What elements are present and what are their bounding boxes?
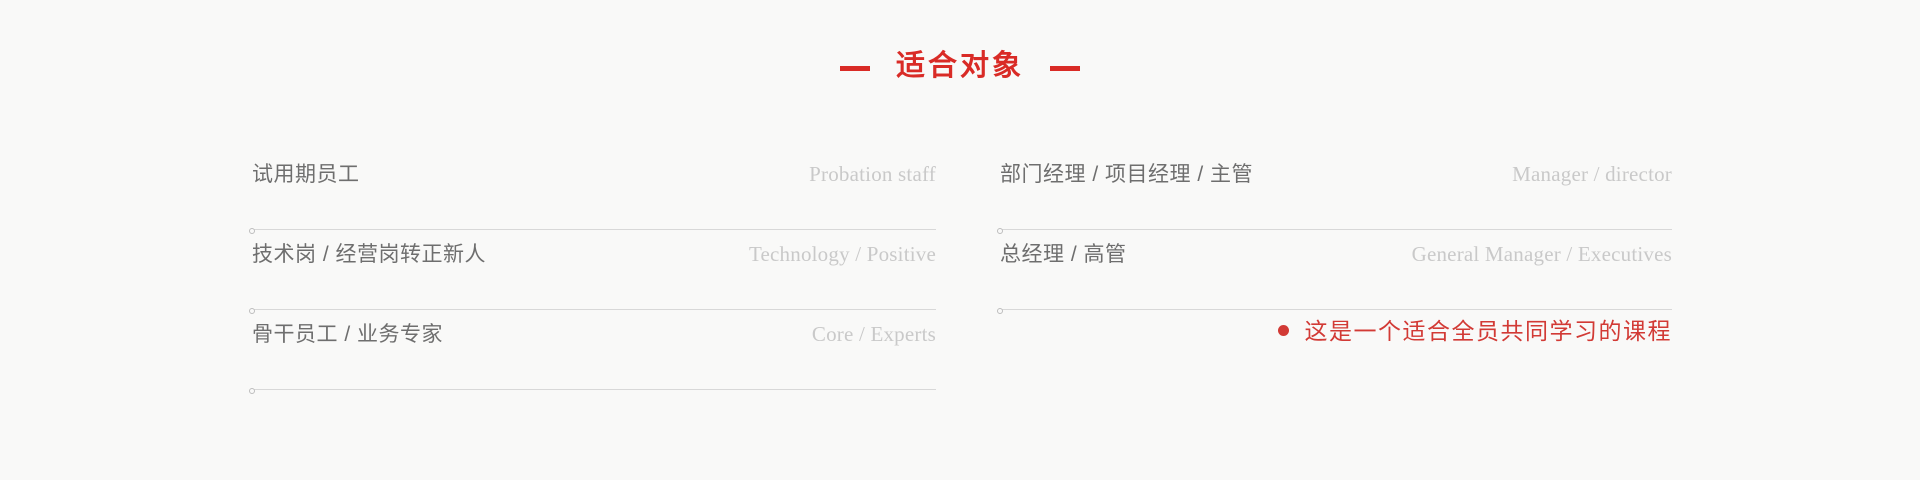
audience-label-cn: 骨干员工 / 业务专家	[252, 318, 443, 348]
audience-columns: 试用期员工 Probation staff 技术岗 / 经营岗转正新人 Tech…	[0, 150, 1920, 410]
bullet-dot-icon	[1278, 325, 1289, 336]
highlight-note-text: 这是一个适合全员共同学习的课程	[1305, 320, 1673, 343]
audience-label-en: General Manager / Executives	[1412, 242, 1672, 267]
page-title: 适合对象	[0, 52, 1920, 81]
audience-label-en: Technology / Positive	[749, 242, 936, 267]
divider-ring-icon	[997, 308, 1003, 314]
list-item: 总经理 / 高管 General Manager / Executives	[1000, 230, 1672, 310]
audience-column-right: 部门经理 / 项目经理 / 主管 Manager / director 总经理 …	[1000, 150, 1672, 310]
row-divider	[1000, 309, 1672, 310]
list-item: 部门经理 / 项目经理 / 主管 Manager / director	[1000, 150, 1672, 230]
divider-ring-icon	[249, 388, 255, 394]
title-dash-right-icon	[1050, 66, 1080, 71]
audience-column-left: 试用期员工 Probation staff 技术岗 / 经营岗转正新人 Tech…	[252, 150, 936, 390]
list-item: 技术岗 / 经营岗转正新人 Technology / Positive	[252, 230, 936, 310]
audience-label-cn: 技术岗 / 经营岗转正新人	[252, 238, 486, 268]
highlight-note: 这是一个适合全员共同学习的课程	[1000, 320, 1672, 343]
list-item: 骨干员工 / 业务专家 Core / Experts	[252, 310, 936, 390]
audience-label-en: Core / Experts	[812, 322, 936, 347]
audience-label-cn: 试用期员工	[252, 158, 360, 188]
page-title-text: 适合对象	[896, 52, 1024, 81]
list-item: 试用期员工 Probation staff	[252, 150, 936, 230]
audience-label-en: Manager / director	[1512, 162, 1672, 187]
row-divider	[252, 389, 936, 390]
audience-label-cn: 总经理 / 高管	[1000, 238, 1127, 268]
title-dash-left-icon	[840, 66, 870, 71]
audience-label-en: Probation staff	[809, 162, 936, 187]
audience-label-cn: 部门经理 / 项目经理 / 主管	[1000, 158, 1253, 188]
